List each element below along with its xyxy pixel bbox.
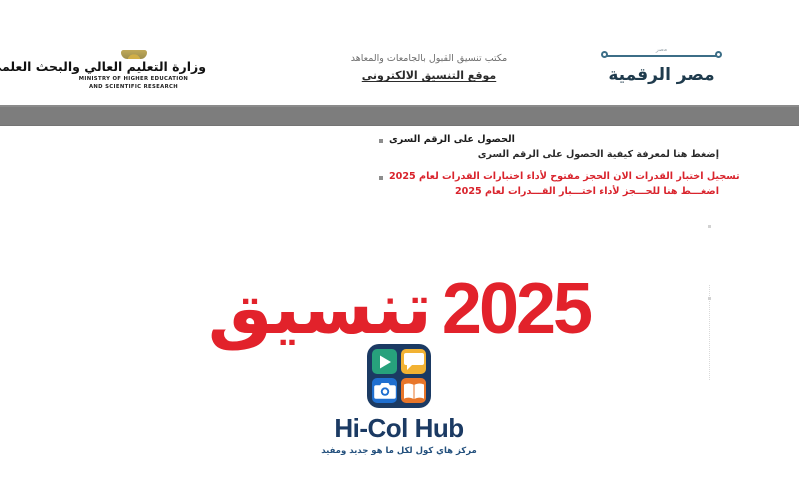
- page-guide-dot: [709, 225, 712, 228]
- digital-egypt-mark-label: ﻣﺻﺭ: [600, 46, 725, 53]
- announcement-link[interactable]: اضغـــط هنا للحـــجز لأداء اختـــبار الق…: [380, 185, 720, 198]
- announcement-item: تسجيل اختبار القدرات الان الحجز مفتوح لأ…: [380, 171, 720, 198]
- hero-year: 2025: [443, 273, 591, 345]
- digital-egypt-name: مصر الرقمية: [600, 65, 725, 85]
- brand-name: Hi-Col Hub: [0, 413, 800, 444]
- egypt-eagle-crest-icon: [122, 50, 148, 59]
- office-subtitle: مكتب تنسيق القبول بالجامعات والمعاهد: [310, 52, 550, 66]
- hero-title: 2025تنسيق: [0, 272, 800, 345]
- square-bullet-icon: [380, 139, 384, 143]
- office-title-block: مكتب تنسيق القبول بالجامعات والمعاهد موق…: [310, 52, 550, 82]
- announcement-link[interactable]: إضغط هنا لمعرفة كيفية الحصول على الرقم ا…: [380, 148, 720, 161]
- page-canvas: وزارة التعليم العالي والبحث العلمي MINIS…: [0, 0, 800, 483]
- announcement-title: تسجيل اختبار القدرات الان الحجز مفتوح لأ…: [390, 171, 741, 184]
- site-header: وزارة التعليم العالي والبحث العلمي MINIS…: [0, 0, 800, 105]
- bar-line: [606, 55, 719, 57]
- ministry-name-arabic: وزارة التعليم العالي والبحث العلمي: [62, 60, 207, 74]
- digital-egypt-logo: ﻣﺻﺭ مصر الرقمية: [600, 46, 725, 85]
- announcement-item: الحصول على الرقم السرى إضغط هنا لمعرفة ك…: [380, 134, 720, 161]
- digital-egypt-bar-icon: ﻣﺻﺭ: [600, 46, 725, 64]
- chat-bubble-icon: [402, 349, 427, 374]
- play-button-icon: [373, 349, 398, 374]
- open-book-icon: [402, 378, 427, 403]
- square-bullet-icon: [380, 176, 384, 180]
- camera-icon: [373, 378, 398, 403]
- announcement-title: الحصول على الرقم السرى: [390, 134, 516, 147]
- announcement-list: الحصول على الرقم السرى إضغط هنا لمعرفة ك…: [380, 134, 720, 209]
- brand-watermark: Hi-Col Hub مركز هاي كول لكل ما هو جديد و…: [0, 344, 800, 456]
- ministry-logo: وزارة التعليم العالي والبحث العلمي MINIS…: [62, 50, 207, 92]
- ministry-name-english-line2: AND SCIENTIFIC RESEARCH: [62, 84, 207, 92]
- hero-word: تنسيق: [209, 266, 433, 350]
- navigation-band[interactable]: [0, 105, 800, 126]
- brand-tagline: مركز هاي كول لكل ما هو جديد ومفيد: [0, 446, 800, 456]
- office-title[interactable]: موقع التنسيق الالكتروني: [310, 69, 550, 82]
- brand-logo-tile: [368, 344, 432, 408]
- ministry-name-english-line1: MINISTRY OF HIGHER EDUCATION: [62, 76, 207, 84]
